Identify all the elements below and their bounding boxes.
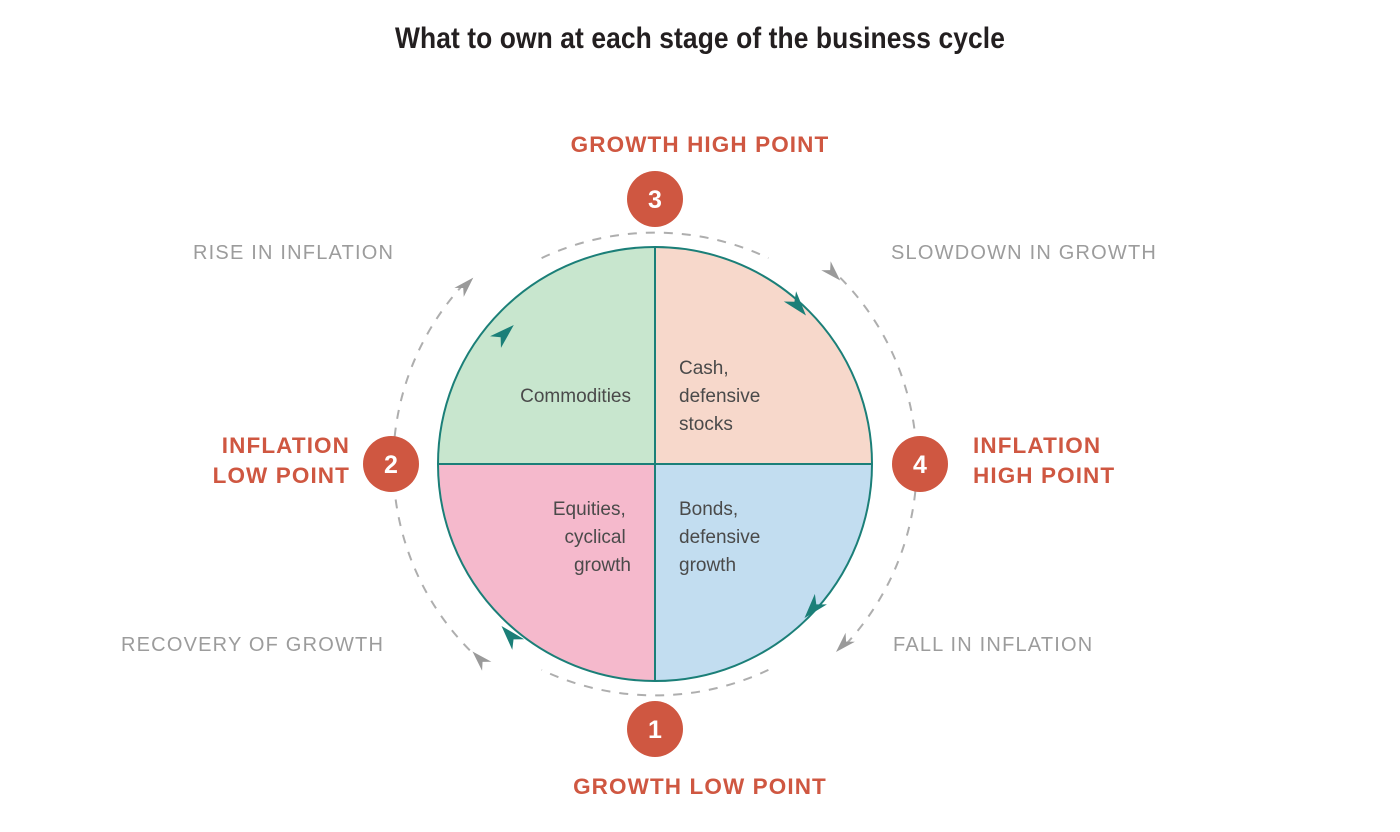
quadrant-label-commodities: Commodities: [520, 386, 631, 407]
quad-line: Commodities: [520, 386, 631, 407]
transition-label-fall-in-inflation: FALL IN INFLATION: [893, 634, 1093, 657]
quad-line: cyclical: [564, 527, 625, 548]
stage-badge-4[interactable]: 4: [892, 436, 948, 492]
quad-line: Cash,: [679, 358, 729, 379]
business-cycle-wheel: Commodities Cash, defensive stocks Equit…: [0, 0, 1400, 832]
stage-badge-3-number: 3: [648, 186, 662, 214]
quad-line: Equities,: [553, 499, 626, 520]
gray-arrow-rise-in-inflation: [454, 273, 478, 297]
quad-line: stocks: [679, 414, 733, 435]
gray-arrow-slowdown-in-growth: [821, 261, 845, 285]
quad-line: defensive: [679, 386, 760, 407]
quad-line: growth: [679, 555, 736, 576]
stage-badge-1[interactable]: 1: [627, 701, 683, 757]
stage-label-growth-low-point: GROWTH LOW POINT: [0, 772, 1400, 802]
diagram-canvas: What to own at each stage of the busines…: [0, 0, 1400, 832]
quad-line: Bonds,: [679, 499, 738, 520]
transition-label-slowdown-in-growth: SLOWDOWN IN GROWTH: [891, 242, 1157, 265]
stage-badge-1-number: 1: [648, 716, 662, 744]
stage-label-inflation-high-point: INFLATIONHIGH POINT: [973, 431, 1115, 490]
quad-line: growth: [574, 555, 631, 576]
gray-arrow-recovery-of-growth: [468, 647, 492, 671]
stage-badge-3[interactable]: 3: [627, 171, 683, 227]
transition-label-rise-in-inflation: RISE IN INFLATION: [193, 242, 394, 265]
stage-badge-4-number: 4: [913, 451, 927, 479]
quad-line: defensive: [679, 527, 760, 548]
gray-arrow-fall-in-inflation: [831, 633, 855, 657]
stage-label-inflation-low-point: INFLATIONLOW POINT: [213, 431, 350, 490]
stage-badge-2[interactable]: 2: [363, 436, 419, 492]
transition-label-recovery-of-growth: RECOVERY OF GROWTH: [121, 634, 384, 657]
stage-badge-2-number: 2: [384, 451, 398, 479]
stage-label-growth-high-point: GROWTH HIGH POINT: [0, 130, 1400, 160]
